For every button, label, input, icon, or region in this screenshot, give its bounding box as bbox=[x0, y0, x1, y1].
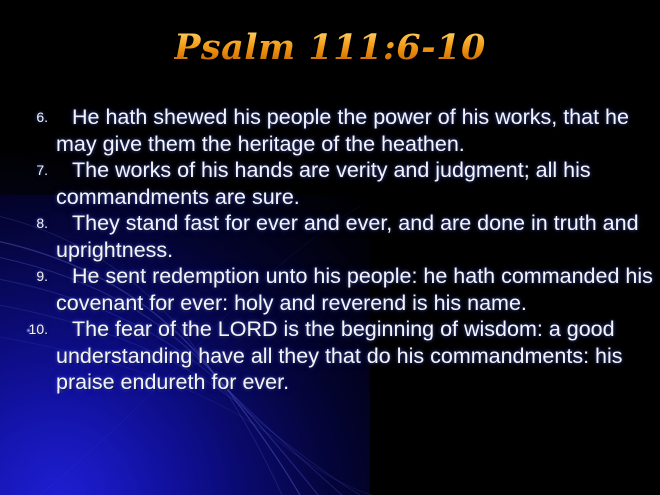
page-title: Psalm 111:6-10 bbox=[174, 26, 486, 70]
verse-number: 8. bbox=[14, 210, 50, 237]
verse-item: 10. The fear of the LORD is the beginnin… bbox=[0, 316, 660, 396]
verse-text: The works of his hands are verity and ju… bbox=[50, 157, 656, 210]
verse-item: 9. He sent redemption unto his people: h… bbox=[0, 263, 660, 316]
title-container: Psalm 111:6-10 bbox=[0, 26, 660, 70]
verse-number: 10. bbox=[14, 316, 50, 343]
verse-text: The fear of the LORD is the beginning of… bbox=[50, 316, 656, 396]
verse-item: 8. They stand fast for ever and ever, an… bbox=[0, 210, 660, 263]
verse-text: He hath shewed his people the power of h… bbox=[50, 104, 656, 157]
verse-number: 9. bbox=[14, 263, 50, 290]
verse-text: He sent redemption unto his people: he h… bbox=[50, 263, 656, 316]
presentation-slide: Psalm 111:6-10 6. He hath shewed his peo… bbox=[0, 0, 660, 495]
verse-number: 6. bbox=[14, 104, 50, 131]
verse-number: 7. bbox=[14, 157, 50, 184]
verse-item: 7. The works of his hands are verity and… bbox=[0, 157, 660, 210]
verse-text: They stand fast for ever and ever, and a… bbox=[50, 210, 656, 263]
verse-list: 6. He hath shewed his people the power o… bbox=[0, 104, 660, 396]
verse-item: 6. He hath shewed his people the power o… bbox=[0, 104, 660, 157]
